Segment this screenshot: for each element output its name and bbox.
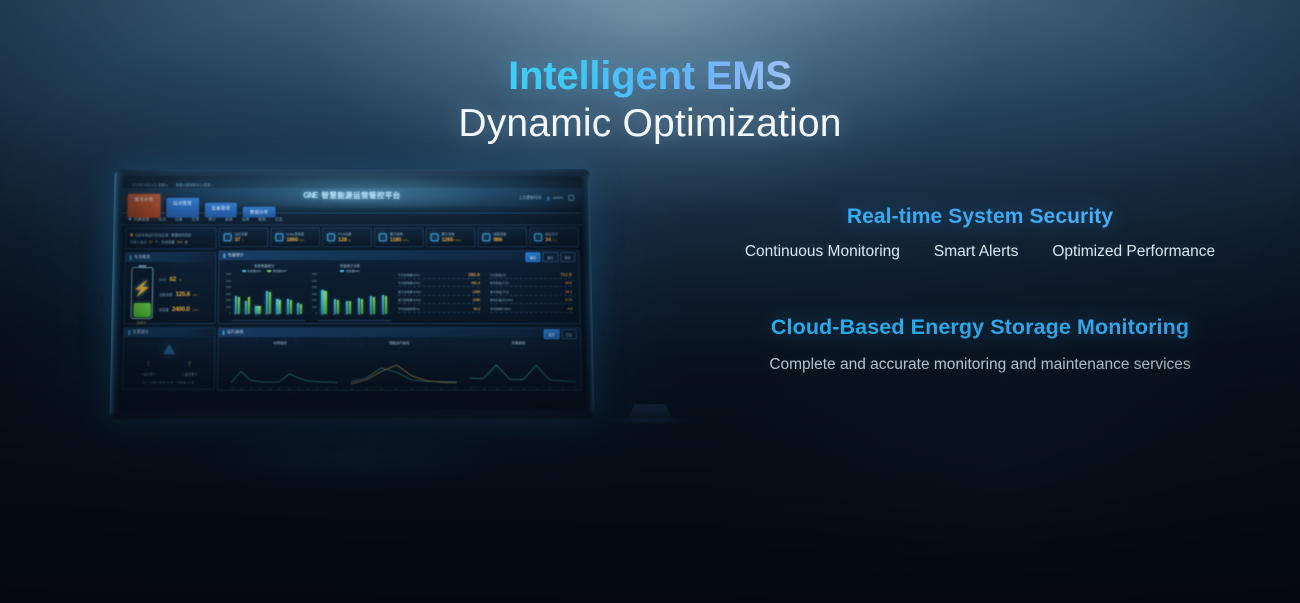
stat-row: 今日放电量(kWh) 261.4 <box>398 281 480 287</box>
alarm-level-icon: ! <box>140 361 156 368</box>
x-tick-label: 03 <box>483 389 485 391</box>
x-tick-label: 00 <box>351 389 353 391</box>
legend-swatch <box>242 270 246 272</box>
user-name: admin <box>553 196 563 200</box>
battery-stat-row: 当前功率 125.6 kW <box>159 291 210 298</box>
battery-stat-row: SOC 62 % <box>159 276 210 283</box>
x-tick-label: 06 <box>496 389 498 391</box>
bar-chart-charge-discharge: 充放电量统计 充电量kWh 放电量kWh <box>223 263 305 321</box>
warning-triangle-icon <box>163 344 175 354</box>
bar-group: 05-08 <box>266 274 271 314</box>
bar-group: 05-05 <box>234 274 240 314</box>
panel-marker-icon <box>130 255 132 260</box>
feature-block-cloud: Cloud-Based Energy Storage Monitoring Co… <box>700 315 1260 374</box>
energy-statistics-panel: 电量统计 按日 按月 按年 充放电量统计 <box>218 250 581 324</box>
chart-y-axis: 6000 5000 4000 3000 2000 1000 0 <box>309 274 318 315</box>
stat-row: 今日充电量(kWh) 282.6 <box>398 272 480 279</box>
alarm-item-list: ! 一级告警 2 ! 二级告警 5 <box>123 357 214 376</box>
x-tick-label: 18 <box>548 389 550 391</box>
battery-icon: ⚡ 充电中 <box>131 267 154 319</box>
battery-charge-label: 充电中 <box>131 320 151 325</box>
stats-block-revenue: 今日收益(元) 712.8 本月收益(万元) 18.6 累计收益(万元) <box>487 263 576 321</box>
x-tick-label: 12 <box>522 389 524 391</box>
lines-panel-buttons[interactable]: 实时 历史 <box>544 329 577 339</box>
status-dot-icon <box>130 234 133 237</box>
stat-row: 累计收益(万元) 34.2 <box>490 290 572 296</box>
tab-sites[interactable]: 站点管理 <box>166 198 199 218</box>
brand-title: 智慧能源运营管控平台 <box>321 190 400 201</box>
feature-subitem: Complete and accurate monitoring and mai… <box>769 356 1190 374</box>
chart-x-axis: 000204060810121416182022 <box>222 389 338 391</box>
bolt-icon <box>379 233 387 241</box>
x-tick-label: 18 <box>316 389 318 391</box>
cloud-icon <box>431 233 439 241</box>
lines-panel-body: 功率曲线 000204060810121416182022 储能运行曲线 000… <box>218 337 581 391</box>
headline-group: Intelligent EMS Dynamic Optimization <box>0 54 1300 146</box>
x-tick-label: 20 <box>326 389 328 391</box>
button-by-year[interactable]: 按年 <box>560 252 576 262</box>
line-chart-power: 功率曲线 000204060810121416182022 <box>222 340 338 388</box>
chart-icon <box>275 233 283 241</box>
bar-group: 05-07 <box>346 274 351 314</box>
x-tick-label: 00 <box>231 389 233 391</box>
feature-title: Real-time System Security <box>700 205 1260 229</box>
charts-panel-body: 充放电量统计 充电量kWh 放电量kWh <box>219 260 580 325</box>
lines-panel-header: 运行曲线 <box>218 328 579 337</box>
x-tick-label: 12 <box>288 389 290 391</box>
chart-bars: 05-0505-0605-0705-0805-0905-1005-11 <box>232 274 305 321</box>
chart-y-axis: 6000 5000 4000 3000 2000 1000 0 <box>223 274 232 315</box>
battery-panel-header: 电池概览 <box>126 253 216 262</box>
panel-corner-icon: ⋮ <box>208 263 212 268</box>
feature-subitem: Continuous Monitoring <box>745 243 900 261</box>
last-update-label: 上次更新时间 <box>519 195 542 200</box>
stat-row: 今日收益(元) 712.8 <box>490 272 572 279</box>
x-tick-label: 21 <box>455 389 457 391</box>
stat-row: 累计放电量(MWh) 1180 <box>398 298 480 304</box>
subnav-item[interactable]: 日志 <box>275 216 283 222</box>
x-tick-label: 02 <box>240 389 242 391</box>
x-tick-label: 23 <box>574 389 576 391</box>
feature-block-security: Real-time System Security Continuous Mon… <box>700 205 1260 261</box>
bar <box>370 296 372 314</box>
x-tick-label: 00 <box>470 389 472 391</box>
legend-swatch <box>340 270 344 272</box>
x-tick-label: 16 <box>307 389 309 391</box>
x-tick-label: 06 <box>259 389 261 391</box>
x-tick-label: 22 <box>335 389 337 391</box>
stat-row: 本月收益(万元) 18.6 <box>490 281 572 287</box>
grid-icon <box>224 233 232 241</box>
x-tick-label: 15 <box>535 389 537 391</box>
button-realtime[interactable]: 实时 <box>544 329 560 339</box>
fullscreen-icon[interactable] <box>568 195 574 201</box>
panel-marker-icon <box>128 330 130 335</box>
kpi-card[interactable]: PCS台数 128台 <box>322 227 372 247</box>
coin-icon <box>534 233 542 241</box>
alarm-item[interactable]: ! 二级告警 5 <box>182 361 198 376</box>
line-chart-load: 负载曲线 000306091215182123 <box>461 340 577 388</box>
dashboard-body: 当前系统运行状态正常 · 数据实时同步 已接入站点 37 个，在线设备 214 … <box>118 225 587 409</box>
dashboard-left-column: 当前系统运行状态正常 · 数据实时同步 已接入站点 37 个，在线设备 214 … <box>122 227 217 406</box>
dashboard-screen: 2024年05月11日 星期六 数据大屏指挥中心/能源··· GNE 智慧能源运… <box>118 176 587 409</box>
button-by-month[interactable]: 按月 <box>543 252 558 262</box>
x-tick-label: 18 <box>440 389 442 391</box>
brand-mark-icon: GNE <box>303 191 317 200</box>
monitor-reflection-glow <box>140 422 570 512</box>
battery-panel-body: ⚡ 充电中 SOC 62 % <box>124 262 215 323</box>
kpi-card[interactable]: 收益总计 34万元 <box>529 227 579 247</box>
charts-panel-buttons[interactable]: 按日 按月 按年 <box>525 252 575 262</box>
kpi-card[interactable]: 累计充电 1265MWh <box>426 227 476 247</box>
chart-x-axis: 000306091215182123 <box>461 389 577 391</box>
x-tick-label: 12 <box>410 389 412 391</box>
background-haze <box>620 243 1300 603</box>
chart-bars: 05-0505-0605-0705-0805-0905-10 <box>318 274 391 321</box>
legend-swatch <box>267 270 271 272</box>
bar <box>321 290 323 314</box>
topline-breadcrumb: 数据大屏指挥中心/能源··· <box>176 182 214 187</box>
battery-fill <box>133 303 150 317</box>
kpi-card[interactable]: 减碳排放 986t <box>477 227 527 247</box>
bar-group: 05-11 <box>297 274 302 314</box>
stats-block-energy: 今日充电量(kWh) 282.6 今日放电量(kWh) 261.4 累计充电量(… <box>395 263 483 321</box>
bar-group: 05-09 <box>276 274 281 314</box>
button-by-day[interactable]: 按日 <box>525 252 540 262</box>
bar <box>234 296 236 314</box>
feature-subtitle-row: Continuous Monitoring Smart Alerts Optim… <box>700 243 1260 261</box>
bar-chart-revenue: 收益统计分析 充电量kWh 6000 5000 <box>309 263 391 321</box>
bar-group: 05-06 <box>334 274 339 314</box>
status-counts: 已接入站点 37 个，在线设备 214 台 <box>130 239 212 244</box>
dashboard-main-column: 站点总数 37个 today发电量 1860kWh <box>217 227 582 406</box>
operation-curve-panel: 运行曲线 实时 历史 功率曲线 0002040608101214161 <box>217 327 582 391</box>
x-tick-label: 21 <box>561 389 563 391</box>
x-tick-label: 09 <box>395 389 397 391</box>
topline-date: 2024年05月11日 星期六 <box>132 182 168 187</box>
kpi-card-row: 站点总数 37个 today发电量 1860kWh <box>219 227 580 247</box>
x-tick-label: 10 <box>278 389 280 391</box>
x-tick-label: 15 <box>425 389 427 391</box>
chart-x-axis: 0003060912151821 <box>342 389 458 391</box>
status-notice: 当前系统运行状态正常 · 数据实时同步 <box>130 232 212 237</box>
lightning-bolt-icon: ⚡ <box>133 282 152 297</box>
stat-row: 平均充放效率(%) 93.2 <box>398 307 480 313</box>
bar-group: 05-10 <box>382 274 387 314</box>
stat-row: 累计充电量(MWh) 1265 <box>398 290 480 296</box>
bar-group: 05-08 <box>358 274 363 314</box>
alarm-statistics-panel: 告警统计 ⋮ ! 一级告警 2 ! <box>122 327 215 390</box>
leaf-icon <box>482 233 490 241</box>
stat-row: 峰谷价差(元/kWh) 0.74 <box>490 298 572 304</box>
bar <box>358 298 360 314</box>
brand-logo: GNE 智慧能源运营管控平台 <box>303 190 400 201</box>
bar <box>266 291 268 314</box>
alarm-level-icon: ! <box>182 361 198 368</box>
panel-marker-icon <box>223 253 225 258</box>
bar <box>382 295 384 314</box>
tab-analytics[interactable]: 数据分析 <box>243 207 276 218</box>
x-tick-label: 04 <box>250 389 252 391</box>
headline-secondary: Dynamic Optimization <box>0 102 1300 146</box>
user-menu[interactable]: 👤 admin <box>546 195 563 200</box>
battery-stats: SOC 62 % 当前功率 125.6 kW <box>159 267 211 319</box>
feature-subitem: Optimized Performance <box>1052 243 1215 261</box>
bar-group: 05-05 <box>321 274 326 314</box>
subnav-dot-icon <box>128 218 131 221</box>
alarm-item[interactable]: ! 一级告警 2 <box>140 361 156 376</box>
bar-group: 05-06 <box>245 274 251 314</box>
chart-legend: 充电量kWh 放电量kWh <box>223 269 305 273</box>
kpi-card[interactable]: today发电量 1860kWh <box>270 227 320 247</box>
headline-primary: Intelligent EMS <box>508 54 792 99</box>
x-tick-label: 03 <box>366 389 368 391</box>
stat-row: 平均利用小时(h) 4.6 <box>490 307 572 313</box>
battery-stat-row: 总容量 2400.0 kWh <box>159 306 210 313</box>
x-tick-label: 14 <box>297 389 299 391</box>
kpi-card[interactable]: 累计放电 1180MWh <box>374 227 424 247</box>
dashboard-tabbar[interactable]: 概览分析 站点管理 设备管理 数据分析 <box>127 194 275 218</box>
panel-corner-icon: ⋮ <box>207 338 211 343</box>
hero-banner: 2024年05月11日 星期六 数据大屏指挥中心/能源··· GNE 智慧能源运… <box>0 0 1300 603</box>
feature-subitem: Smart Alerts <box>934 243 1018 261</box>
x-tick-label: 09 <box>509 389 511 391</box>
panel-marker-icon <box>223 330 225 335</box>
curved-monitor: 2024年05月11日 星期六 数据大屏指挥中心/能源··· GNE 智慧能源运… <box>112 168 592 418</box>
user-icon: 👤 <box>546 195 551 200</box>
kpi-card[interactable]: 站点总数 37个 <box>219 227 269 247</box>
alarm-summary-text: 近 7 天累计告警 48 条，已处理 43 条 <box>123 380 214 385</box>
line-chart-storage: 储能运行曲线 0003060912151821 <box>342 340 458 388</box>
alarm-panel-header: 告警统计 <box>124 328 214 337</box>
chart-legend: 充电量kWh <box>309 269 391 273</box>
battery-overview-panel: 电池概览 ⋮ ⚡ 充电中 <box>123 252 216 324</box>
x-tick-label: 06 <box>380 389 382 391</box>
monitor-base <box>590 418 710 423</box>
bar-group: 05-09 <box>370 274 375 314</box>
bar <box>276 299 278 314</box>
tab-overview[interactable]: 概览分析 <box>127 194 160 218</box>
status-notice-panel: 当前系统运行状态正常 · 数据实时同步 已接入站点 37 个，在线设备 214 … <box>125 227 217 249</box>
bar-group: 05-10 <box>287 274 292 314</box>
tab-devices[interactable]: 设备管理 <box>204 203 237 218</box>
battery-icon <box>327 233 335 241</box>
x-tick-label: 08 <box>269 389 271 391</box>
feature-subtitle-row: Complete and accurate monitoring and mai… <box>700 356 1260 374</box>
button-history[interactable]: 历史 <box>561 329 577 339</box>
dashboard-header-right[interactable]: 上次更新时间 👤 admin <box>519 195 575 201</box>
feature-title: Cloud-Based Energy Storage Monitoring <box>700 315 1260 340</box>
bar-group: 05-07 <box>255 274 260 314</box>
